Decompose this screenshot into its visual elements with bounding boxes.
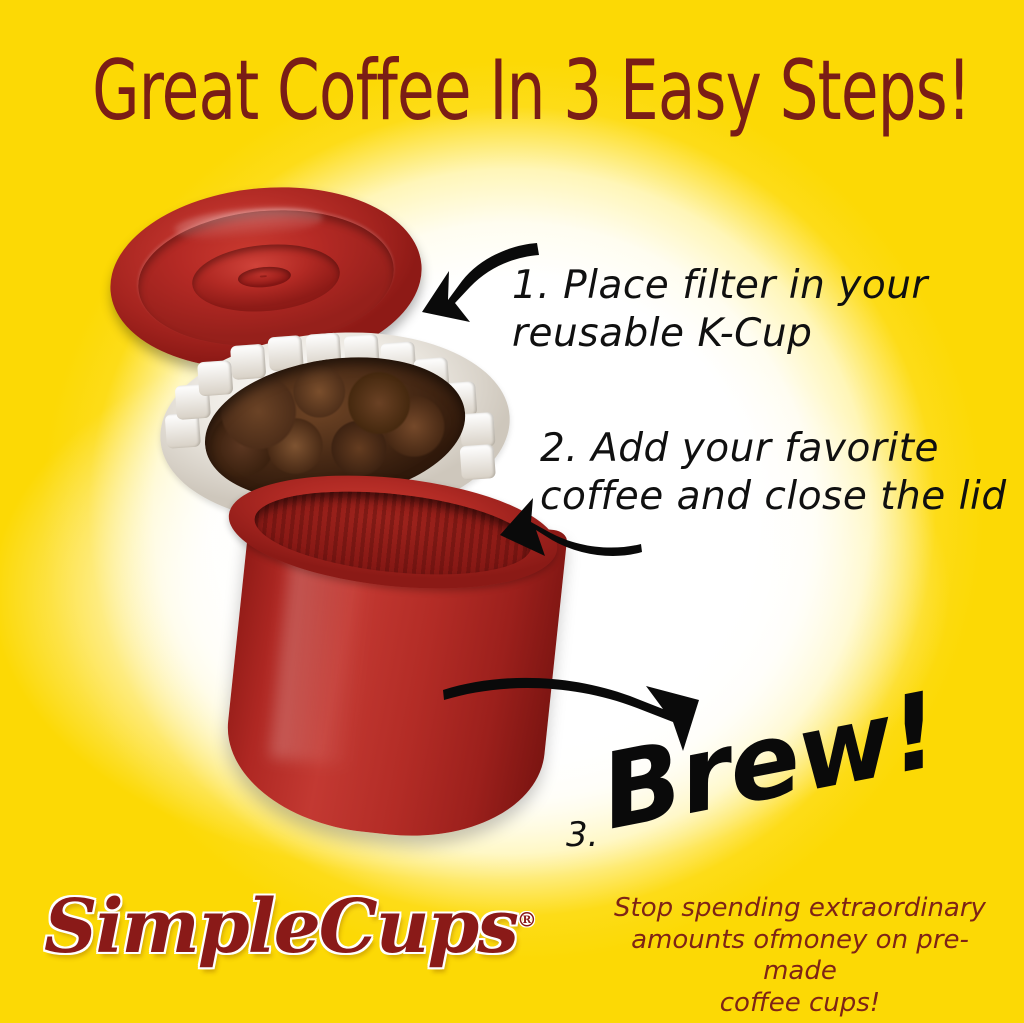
step-2-text: 2. Add your favorite coffee and close th… (540, 425, 1007, 520)
brand-name-cups: Cups (319, 884, 517, 970)
step-1-text: 1. Place filter in your reusable K-Cup (512, 262, 928, 357)
registered-trademark-icon: ® (517, 907, 537, 931)
brand-name-simple: Simple (44, 884, 319, 970)
product-infographic-poster: Great Coffee In 3 Easy Steps! (0, 0, 1024, 1023)
brand-logo: SimpleCups® (44, 884, 537, 970)
tagline: Stop spending extraordinary amounts ofmo… (600, 893, 1000, 1020)
step-3-number: 3. (566, 815, 598, 855)
